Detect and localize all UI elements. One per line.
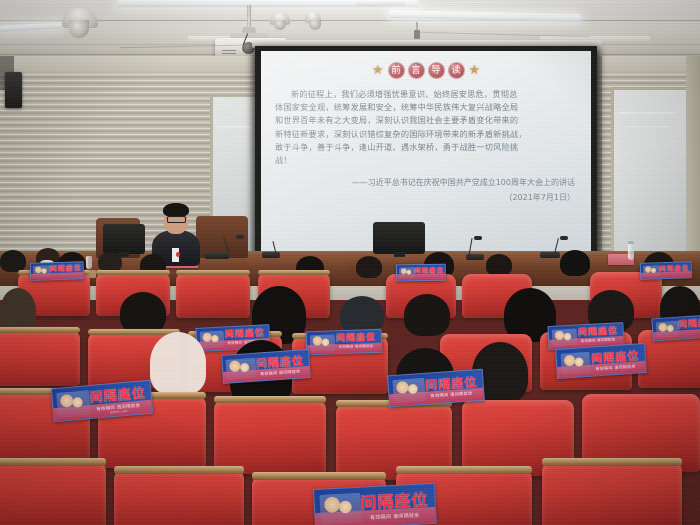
- sign-char-2: 隔: [603, 352, 615, 364]
- star-icon: ★: [469, 64, 481, 77]
- spaced-seating-sign: 间 隔 座 位 有效隔间 请间隔就坐: [306, 329, 383, 356]
- microphone-base: [540, 252, 560, 258]
- spaced-seating-sign: 间 隔 座 位: [640, 261, 693, 280]
- sign-char-4: 位: [366, 334, 375, 343]
- sign-char-3: 座: [356, 335, 365, 344]
- sign-char-4: 位: [627, 350, 639, 362]
- sign-char-1: 间: [425, 379, 438, 392]
- sign-char-1: 间: [360, 495, 377, 512]
- glass-highlight: [216, 126, 252, 128]
- seat-trim: [0, 458, 106, 466]
- auditorium-seat[interactable]: [542, 462, 682, 525]
- camera-lens-icon: [75, 28, 84, 37]
- sign-char-1: 间: [50, 266, 57, 273]
- sign-char-3: 座: [117, 389, 131, 403]
- audience-head: [486, 254, 512, 276]
- sign-illustration: [56, 391, 91, 418]
- sign-char-1: 间: [336, 335, 345, 344]
- audience-head: [0, 250, 26, 272]
- audience-head: [404, 294, 450, 336]
- sign-char-4: 位: [464, 376, 477, 389]
- sign-char-3: 座: [66, 265, 73, 272]
- spaced-seating-sign: 间 隔 座 位: [396, 264, 446, 282]
- glass-panel-frame: [611, 87, 695, 267]
- sign-char-3: 座: [280, 357, 292, 369]
- ceiling-sensor-icon: [305, 12, 321, 23]
- spaced-seating-sign: 间 隔 座 位 有效隔间 请间隔就坐: [313, 483, 437, 525]
- sign-illustration: [552, 329, 578, 347]
- spaced-seating-sign: 间 隔 座 位 有效隔间 请间隔就坐: [555, 343, 647, 379]
- sign-illustration: [226, 358, 257, 381]
- sign-title: 间 隔 座 位: [50, 265, 81, 274]
- sign-char-2: 隔: [422, 268, 429, 275]
- slide-title: ★ 前 言 导 读 ★: [261, 63, 591, 78]
- bottle-cap: [628, 241, 634, 244]
- audience-head: [356, 256, 382, 278]
- seat-trim: [542, 458, 682, 466]
- slide-title-char-1: 前: [389, 63, 404, 78]
- auditorium-seat[interactable]: [176, 272, 250, 318]
- slide-attribution: ——习近平总书记在庆祝中国共产党成立100周年大会上的讲话: [275, 176, 575, 189]
- party-emblem-pin: [176, 252, 180, 257]
- sign-char-4: 位: [437, 267, 444, 274]
- microphone-head-icon: [236, 235, 244, 239]
- auditorium-seat[interactable]: [114, 470, 244, 525]
- microphone-base: [262, 252, 280, 258]
- audience-head: [98, 252, 122, 272]
- sign-char-4: 位: [292, 356, 304, 368]
- presenter-hair: [163, 203, 189, 217]
- ceiling-speaker-icon: [270, 12, 290, 25]
- spaced-seating-sign: 间 隔 座 位 有效隔间 请间隔就坐: [221, 349, 311, 384]
- presenter-glasses-icon: [167, 216, 186, 223]
- presentation-slide: ★ 前 言 导 读 ★ 新的征程上，我们必须增强忧患意识、始终居安思危，贯彻总 …: [261, 51, 591, 253]
- sign-illustration: [310, 334, 336, 352]
- slide-title-char-3: 导: [429, 63, 444, 78]
- slide-body-line: 敢于斗争，善于斗争，逢山开道、遇水架桥，勇于战胜一切风险挑: [275, 142, 518, 152]
- spaced-seating-sign: 间 隔 座 位 有效隔间 请间隔就坐: [387, 369, 485, 408]
- projection-screen: ★ 前 言 导 读 ★ 新的征程上，我们必须增强忧患意识、始终居安思危，贯彻总 …: [261, 51, 591, 253]
- seat-trim: [176, 270, 250, 275]
- sign-illustration: [200, 331, 225, 349]
- slide-title-char-2: 言: [409, 63, 424, 78]
- microphone-base: [205, 252, 229, 259]
- light-reflection: [355, 2, 405, 6]
- sign-char-3: 座: [674, 265, 681, 272]
- sign-char-2: 隔: [688, 320, 698, 330]
- seat-trim: [96, 270, 170, 275]
- slide-body-line: 新的征程上，我们必须增强忧患意识、始终居安思危，贯彻总: [291, 89, 517, 99]
- slide-body-line: 体国家安全观，统筹发展和安全，统筹中华民族伟大复兴战略全局: [275, 102, 518, 112]
- sign-char-4: 位: [411, 492, 428, 509]
- sign-char-2: 隔: [667, 265, 674, 272]
- sign-char-1: 间: [659, 266, 666, 273]
- star-icon: ★: [372, 64, 384, 77]
- microphone-head-icon: [560, 236, 568, 240]
- sign-char-1: 间: [591, 353, 603, 365]
- projector-vent: [222, 50, 236, 51]
- sign-char-2: 隔: [588, 329, 597, 338]
- monitor-stand: [394, 252, 405, 257]
- sign-char-1: 间: [414, 268, 421, 275]
- sign-char-2: 隔: [346, 335, 355, 344]
- slide-body-line: 新特征新要求，深刻认识错综复杂的国际环境带来的新矛盾新挑战，: [275, 129, 527, 139]
- sign-illustration: [392, 378, 425, 403]
- slide-body-text: 新的征程上，我们必须增强忧患意识、始终居安思危，贯彻总 体国家安全观，统筹发展和…: [275, 88, 577, 167]
- sign-char-3: 座: [451, 377, 464, 390]
- slide-body-line: 和世界百年未有之大变局，深刻认识我国社会主要矛盾变化带来的: [275, 115, 518, 125]
- sign-char-4: 位: [682, 265, 689, 272]
- water-bottle-icon: [628, 244, 634, 260]
- sign-char-3: 座: [394, 493, 411, 510]
- lecture-hall-photo: ★ 前 言 导 读 ★ 新的征程上，我们必须增强忧患意识、始终居安思危，贯彻总 …: [0, 0, 700, 525]
- sign-title: 间 隔 座 位: [677, 318, 700, 331]
- sign-char-4: 位: [131, 388, 145, 402]
- sign-illustration: [560, 352, 591, 375]
- slide-title-char-4: 读: [449, 63, 464, 78]
- sign-char-1: 间: [256, 358, 268, 370]
- sign-char-2: 隔: [438, 378, 451, 391]
- sign-char-2: 隔: [103, 390, 117, 404]
- seat-trim: [252, 472, 386, 480]
- sign-char-1: 间: [578, 329, 587, 338]
- desk-monitor: [103, 224, 145, 254]
- spaced-seating-sign: 间 隔 座 位: [30, 261, 85, 281]
- sign-char-3: 座: [598, 328, 607, 337]
- sign-char-3: 座: [429, 267, 436, 274]
- audience-person-light-coat: [150, 332, 206, 394]
- seat-trim: [258, 270, 330, 275]
- microphone-head-icon: [474, 236, 482, 240]
- wall-speaker-icon: [5, 72, 22, 108]
- auditorium-seat[interactable]: [0, 330, 80, 386]
- sign-title: 间 隔 座 位: [358, 490, 431, 512]
- glass-highlight: [626, 126, 670, 128]
- auditorium-seat[interactable]: [0, 462, 106, 525]
- sign-char-4: 位: [74, 265, 81, 272]
- sign-illustration: [643, 265, 660, 277]
- ceiling-seam: [0, 20, 700, 21]
- seat-trim: [0, 327, 80, 333]
- sign-char-2: 隔: [235, 331, 244, 340]
- audience-head: [120, 292, 166, 334]
- slide-date: （2021年7月1日）: [275, 192, 575, 204]
- projector-vent: [222, 53, 236, 54]
- sign-char-2: 隔: [58, 266, 65, 273]
- sign-char-3: 座: [615, 351, 627, 363]
- sign-char-1: 间: [225, 331, 234, 340]
- sign-char-3: 座: [245, 330, 254, 339]
- seat-trim: [114, 466, 244, 474]
- sign-char-1: 间: [678, 321, 688, 331]
- sign-illustration: [33, 265, 51, 278]
- sign-illustration: [399, 267, 416, 279]
- sign-title: 间 隔 座 位: [659, 265, 689, 273]
- sign-illustration: [655, 321, 679, 339]
- sign-char-1: 间: [89, 391, 103, 405]
- spaced-seating-sign: 间 隔 座 位: [651, 314, 700, 342]
- audience-head: [560, 250, 590, 276]
- water-bottle-icon: [86, 256, 92, 269]
- sign-char-2: 隔: [377, 494, 394, 511]
- seat-trim: [396, 466, 532, 474]
- glass-highlight: [620, 112, 674, 114]
- sign-char-4: 位: [608, 328, 617, 337]
- seat-trim: [214, 396, 326, 403]
- slide-body-line: 战！: [275, 155, 292, 165]
- sign-title: 间 隔 座 位: [414, 267, 443, 275]
- auditorium-seat[interactable]: [214, 400, 326, 474]
- desk-monitor: [373, 222, 425, 254]
- sign-illustration: [319, 493, 361, 525]
- sign-char-4: 位: [255, 330, 264, 339]
- sign-char-2: 隔: [268, 357, 280, 369]
